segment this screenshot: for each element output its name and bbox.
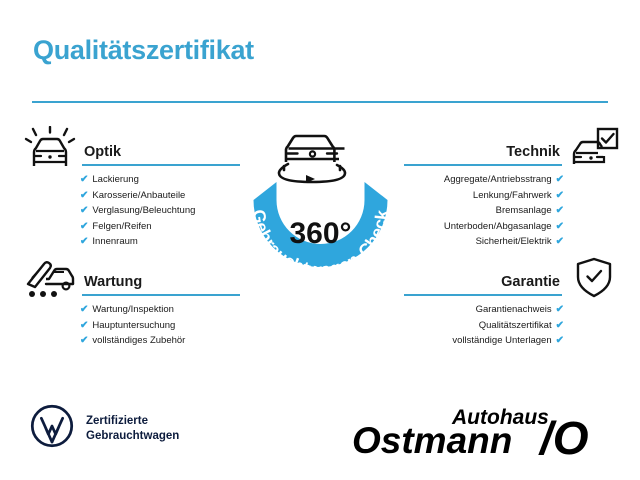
list-item: Unterboden/Abgasanlage✔ xyxy=(398,219,618,235)
list-item-label: Lenkung/Fahrwerk xyxy=(473,190,552,201)
list-item: ✔Wartung/Inspektion xyxy=(22,302,242,318)
list-item: ✔vollständiges Zubehör xyxy=(22,333,242,349)
check-icon: ✔ xyxy=(556,236,564,247)
list-item: ✔Lackierung xyxy=(22,172,242,188)
car-checkbox-icon xyxy=(568,126,618,168)
section-optik: Optik ✔Lackierung ✔Karosserie/Anbauteile… xyxy=(22,126,242,250)
check-icon: ✔ xyxy=(556,190,564,201)
list-item-label: Qualitätszertifikat xyxy=(479,320,552,331)
section-divider xyxy=(82,294,240,296)
check-icon: ✔ xyxy=(80,190,88,201)
vw-line-2: Gebrauchtwagen xyxy=(86,429,179,444)
list-item: ✔Hauptuntersuchung xyxy=(22,318,242,334)
list-item: Aggregate/Antriebsstrang✔ xyxy=(398,172,618,188)
list-item: Sicherheit/Elektrik✔ xyxy=(398,234,618,250)
check-icon: ✔ xyxy=(556,205,564,216)
list-item-label: Verglasung/Beleuchtung xyxy=(92,205,195,216)
check-icon: ✔ xyxy=(80,236,88,247)
section-divider xyxy=(404,294,562,296)
section-divider xyxy=(404,164,562,166)
car-shine-icon xyxy=(24,126,74,168)
dealer-logo: Autohaus Ostmann /O xyxy=(352,398,614,460)
section-title: Technik xyxy=(506,144,560,160)
check-icon: ✔ xyxy=(556,320,564,331)
list-item: Lenkung/Fahrwerk✔ xyxy=(398,188,618,204)
badge-ring-tip-right xyxy=(365,182,388,200)
list-item: ✔Verglasung/Beleuchtung xyxy=(22,203,242,219)
list-item-label: Sicherheit/Elektrik xyxy=(476,236,552,247)
list-item-label: Unterboden/Abgasanlage xyxy=(444,221,552,232)
list-item-label: Wartung/Inspektion xyxy=(92,304,174,315)
wrench-car-icon xyxy=(24,256,74,298)
check-icon: ✔ xyxy=(80,221,88,232)
section-divider xyxy=(82,164,240,166)
page-title: Qualitätszertifikat xyxy=(33,35,254,66)
section-header-optik: Optik xyxy=(22,126,242,172)
section-title: Optik xyxy=(84,144,121,160)
list-item-label: Innenraum xyxy=(92,236,137,247)
section-header-wartung: Wartung xyxy=(22,256,242,302)
dealer-monogram: /O xyxy=(538,412,589,460)
vw-certified-block: Zertifizierte Gebrauchtwagen xyxy=(30,404,179,453)
badge-360-gebrauchtwagen-check: Gebrauchtwagen-Check 360° xyxy=(228,112,413,297)
list-item-label: Felgen/Reifen xyxy=(92,221,151,232)
check-icon: ✔ xyxy=(80,320,88,331)
list-item: ✔Karosserie/Anbauteile xyxy=(22,188,242,204)
section-title: Garantie xyxy=(501,274,560,290)
section-technik: Technik Aggregate/Antriebsstrang✔ Lenkun… xyxy=(398,126,618,250)
list-item-label: Karosserie/Anbauteile xyxy=(92,190,185,201)
check-icon: ✔ xyxy=(80,335,88,346)
check-icon: ✔ xyxy=(556,174,564,185)
checklist-garantie: Garantienachweis✔ Qualitätszertifikat✔ v… xyxy=(398,302,618,349)
list-item-label: Lackierung xyxy=(92,174,138,185)
section-header-garantie: Garantie xyxy=(398,256,618,302)
section-garantie: Garantie Garantienachweis✔ Qualitätszert… xyxy=(398,256,618,349)
car-rotate-icon xyxy=(279,136,351,183)
vw-certified-text: Zertifizierte Gebrauchtwagen xyxy=(86,414,179,444)
check-icon: ✔ xyxy=(80,174,88,185)
list-item-label: vollständiges Zubehör xyxy=(92,335,185,346)
dealer-name-main: Ostmann xyxy=(352,420,512,460)
list-item-label: Bremsanlage xyxy=(496,205,552,216)
list-item: ✔Felgen/Reifen xyxy=(22,219,242,235)
section-header-technik: Technik xyxy=(398,126,618,172)
list-item: Garantienachweis✔ xyxy=(398,302,618,318)
vw-logo-icon xyxy=(30,404,74,453)
title-divider xyxy=(32,101,608,103)
list-item: ✔Innenraum xyxy=(22,234,242,250)
vw-line-1: Zertifizierte xyxy=(86,414,179,429)
checklist-technik: Aggregate/Antriebsstrang✔ Lenkung/Fahrwe… xyxy=(398,172,618,250)
list-item-label: Hauptuntersuchung xyxy=(92,320,175,331)
shield-check-icon xyxy=(568,256,618,298)
section-wartung: Wartung ✔Wartung/Inspektion ✔Hauptunters… xyxy=(22,256,242,349)
check-icon: ✔ xyxy=(556,221,564,232)
list-item-label: Aggregate/Antriebsstrang xyxy=(444,174,552,185)
list-item-label: Garantienachweis xyxy=(476,304,552,315)
list-item: vollständige Unterlagen✔ xyxy=(398,333,618,349)
check-icon: ✔ xyxy=(556,304,564,315)
badge-ring-tip-left xyxy=(254,182,277,200)
checklist-wartung: ✔Wartung/Inspektion ✔Hauptuntersuchung ✔… xyxy=(22,302,242,349)
check-icon: ✔ xyxy=(80,304,88,315)
check-icon: ✔ xyxy=(80,205,88,216)
check-icon: ✔ xyxy=(556,335,564,346)
list-item: Bremsanlage✔ xyxy=(398,203,618,219)
checklist-optik: ✔Lackierung ✔Karosserie/Anbauteile ✔Verg… xyxy=(22,172,242,250)
list-item: Qualitätszertifikat✔ xyxy=(398,318,618,334)
section-title: Wartung xyxy=(84,274,142,290)
list-item-label: vollständige Unterlagen xyxy=(452,335,551,346)
badge-center-text: 360° xyxy=(289,217,351,250)
